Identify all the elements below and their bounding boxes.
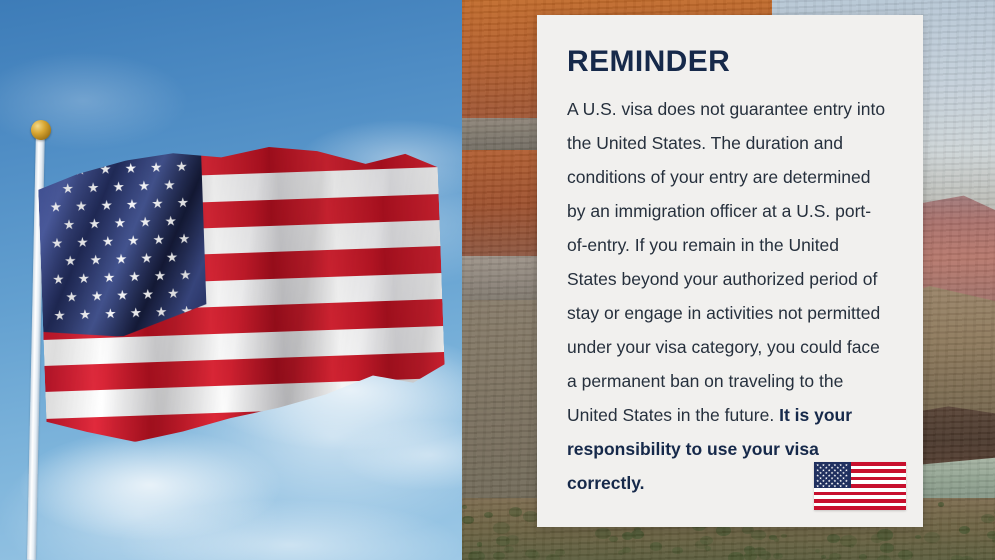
brush-speckle: [827, 534, 839, 543]
cloud-shape: [120, 500, 460, 560]
brush-speckle: [988, 517, 993, 520]
flag-star-icon: [828, 464, 831, 467]
flag-star-icon: [88, 182, 99, 193]
brush-speckle: [504, 546, 514, 553]
flag-star-icon: [63, 219, 74, 230]
flag-star-icon: [816, 485, 819, 488]
brush-speckle: [769, 535, 777, 540]
brush-speckle: [877, 555, 891, 560]
card-body-normal: A U.S. visa does not guarantee entry int…: [567, 99, 885, 425]
flag-star-icon: [125, 163, 136, 174]
flag-star-icon: [822, 464, 825, 467]
brush-speckle: [631, 530, 644, 539]
flag-star-icon: [51, 238, 62, 249]
brush-speckle: [469, 552, 477, 557]
brush-speckle: [859, 554, 867, 560]
brush-speckle: [496, 536, 510, 546]
flag-star-icon: [828, 469, 831, 472]
flag-star-icon: [836, 477, 839, 480]
flag-star-icon: [836, 466, 839, 469]
brush-speckle: [462, 505, 467, 508]
flag-star-icon: [79, 309, 90, 320]
flag-star-icon: [831, 482, 834, 485]
flag-star-icon: [114, 217, 125, 228]
flag-star-icon: [128, 235, 139, 246]
flag-star-icon: [54, 310, 65, 321]
flag-star-icon: [816, 474, 819, 477]
brush-speckle: [938, 502, 945, 507]
flag-star-icon: [842, 471, 845, 474]
cloud-shape: [20, 430, 280, 540]
brush-speckle: [959, 556, 975, 560]
brush-speckle: [754, 547, 766, 556]
flag-star-icon: [822, 474, 825, 477]
flag-star-icon: [153, 234, 164, 245]
brush-speckle: [981, 514, 994, 523]
flag-star-icon: [156, 306, 167, 317]
brush-speckle: [849, 544, 854, 548]
brush-speckle: [477, 542, 483, 546]
flag-star-icon: [90, 254, 101, 265]
brush-speckle: [871, 534, 883, 542]
flag-star-icon: [836, 471, 839, 474]
flag-stripe: [814, 506, 906, 510]
us-flag-icon: [814, 462, 906, 510]
brush-speckle: [622, 532, 634, 540]
flag-star-icon: [152, 198, 163, 209]
brush-speckle: [742, 526, 754, 534]
brush-speckle: [773, 553, 782, 559]
flag-star-icon: [154, 270, 165, 281]
brush-speckle: [700, 536, 713, 545]
slide-canvas: REMINDER A U.S. visa does not guarantee …: [0, 0, 995, 560]
brush-speckle: [959, 526, 970, 534]
brush-speckle: [506, 535, 519, 544]
flag-star-icon: [833, 479, 836, 482]
flag-star-icon: [828, 474, 831, 477]
flag-stripe: [814, 492, 906, 496]
flag-star-icon: [831, 471, 834, 474]
flagpole-finial-icon: [31, 120, 51, 140]
flag-star-icon: [164, 179, 175, 190]
brush-speckle: [523, 511, 538, 522]
waving-flag: [37, 141, 447, 445]
flag-star-icon: [142, 289, 153, 300]
flag-canton: [37, 149, 207, 339]
flag-star-icon: [825, 482, 828, 485]
brush-speckle: [484, 512, 493, 519]
brush-speckle: [880, 543, 894, 553]
flag-star-icon: [825, 466, 828, 469]
flag-star-icon: [101, 200, 112, 211]
flag-star-icon: [113, 181, 124, 192]
flag-star-icon: [833, 464, 836, 467]
flag-star-icon: [822, 485, 825, 488]
flag-star-icon: [819, 477, 822, 480]
flag-star-icon: [842, 466, 845, 469]
flag-star-icon: [839, 469, 842, 472]
flag-canton: [814, 462, 851, 488]
brush-speckle: [493, 522, 510, 534]
flag-star-icon: [130, 307, 141, 318]
flag-star-icon: [102, 236, 113, 247]
brush-speckle: [759, 551, 771, 560]
flag-star-icon: [178, 233, 189, 244]
brush-speckle: [885, 545, 893, 550]
flag-star-icon: [126, 199, 137, 210]
brush-speckle: [609, 536, 618, 542]
flag-star-icon: [180, 269, 191, 280]
flag-star-icon: [845, 464, 848, 467]
brush-speckle: [525, 549, 538, 558]
brush-speckle: [751, 530, 766, 540]
brush-speckle: [622, 547, 631, 553]
flag-star-icon: [176, 161, 187, 172]
brush-speckle: [924, 532, 940, 543]
flag-star-icon: [833, 485, 836, 488]
flag-star-icon: [819, 482, 822, 485]
brush-speckle: [898, 550, 913, 560]
brush-speckle: [840, 535, 857, 547]
brush-speckle: [728, 552, 744, 560]
flag-star-icon: [115, 253, 126, 264]
flag-star-icon: [833, 469, 836, 472]
flag-star-icon: [166, 252, 177, 263]
flag-star-icon: [53, 274, 64, 285]
brush-speckle: [744, 546, 755, 553]
flag-star-icon: [77, 237, 88, 248]
flag-star-icon: [845, 474, 848, 477]
brush-speckle: [774, 538, 779, 541]
flag-star-icon: [177, 197, 188, 208]
flag-star-icon: [845, 469, 848, 472]
brush-speckle: [829, 553, 841, 560]
flag-star-icon: [66, 291, 77, 302]
flag-star-icon: [168, 288, 179, 299]
flag-star-icon: [825, 471, 828, 474]
flag-body: [37, 141, 447, 445]
flag-star-icon: [100, 164, 111, 175]
brush-speckle: [509, 507, 523, 517]
brush-speckle: [877, 529, 893, 540]
flag-star-icon: [839, 485, 842, 488]
flag-star-icon: [117, 290, 128, 301]
flag-star-icon: [842, 482, 845, 485]
flag-star-icon: [105, 308, 116, 319]
flag-star-icon: [65, 255, 76, 266]
flag-star-icon: [104, 272, 115, 283]
flag-star-icon: [842, 477, 845, 480]
brush-speckle: [528, 551, 541, 560]
reminder-card: REMINDER A U.S. visa does not guarantee …: [537, 15, 923, 527]
flag-star-icon: [822, 479, 825, 482]
flag-star-icon: [151, 162, 162, 173]
brush-speckle: [951, 555, 963, 560]
flag-star-icon: [828, 485, 831, 488]
flag-star-icon: [845, 485, 848, 488]
brush-speckle: [821, 555, 826, 558]
flag-star-icon: [816, 464, 819, 467]
flag-star-icon: [845, 479, 848, 482]
flag-star-icon: [78, 273, 89, 284]
flag-star-icon: [819, 466, 822, 469]
flag-star-icon: [828, 479, 831, 482]
flag-star-icon: [49, 165, 60, 176]
brush-speckle: [781, 534, 787, 538]
brush-speckle: [744, 552, 757, 560]
brush-speckle: [650, 542, 662, 550]
brush-speckle: [468, 551, 484, 560]
flag-star-icon: [141, 253, 152, 264]
flag-star-icon: [816, 469, 819, 472]
flag-star-icon: [62, 183, 73, 194]
flag-star-icon: [129, 271, 140, 282]
brush-speckle: [555, 549, 565, 556]
brush-speckle: [695, 540, 708, 549]
flag-star-icon: [140, 216, 151, 227]
flag-star-icon: [833, 474, 836, 477]
flag-star-icon: [822, 469, 825, 472]
flag-star-icon: [839, 464, 842, 467]
brush-speckle: [987, 531, 995, 539]
brush-speckle: [618, 550, 625, 555]
brush-speckle: [595, 528, 611, 539]
brush-speckle: [462, 516, 474, 524]
flag-star-icon: [839, 479, 842, 482]
card-body-text: A U.S. visa does not guarantee entry int…: [567, 92, 891, 500]
flag-star-icon: [825, 477, 828, 480]
flag-star-icon: [138, 180, 149, 191]
card-title: REMINDER: [567, 45, 891, 78]
flag-star-icon: [836, 482, 839, 485]
brush-speckle: [493, 552, 505, 560]
flag-star-icon: [831, 466, 834, 469]
brush-speckle: [915, 535, 921, 539]
brush-speckle: [815, 549, 821, 553]
flag-star-icon: [165, 216, 176, 227]
american-flag-photo: [0, 0, 462, 560]
flag-stripe: [814, 499, 906, 503]
brush-speckle: [672, 547, 682, 554]
flag-star-icon: [76, 201, 87, 212]
flag-star-icon: [74, 164, 85, 175]
flag-star-icon: [91, 290, 102, 301]
brush-speckle: [634, 527, 641, 532]
flag-star-icon: [819, 471, 822, 474]
flag-star-icon: [839, 474, 842, 477]
brush-speckle: [705, 546, 712, 551]
flag-star-icon: [816, 479, 819, 482]
flag-star-icon: [831, 477, 834, 480]
brush-speckle: [546, 554, 560, 560]
flag-star-icon: [89, 218, 100, 229]
flag-star-icon: [50, 201, 61, 212]
